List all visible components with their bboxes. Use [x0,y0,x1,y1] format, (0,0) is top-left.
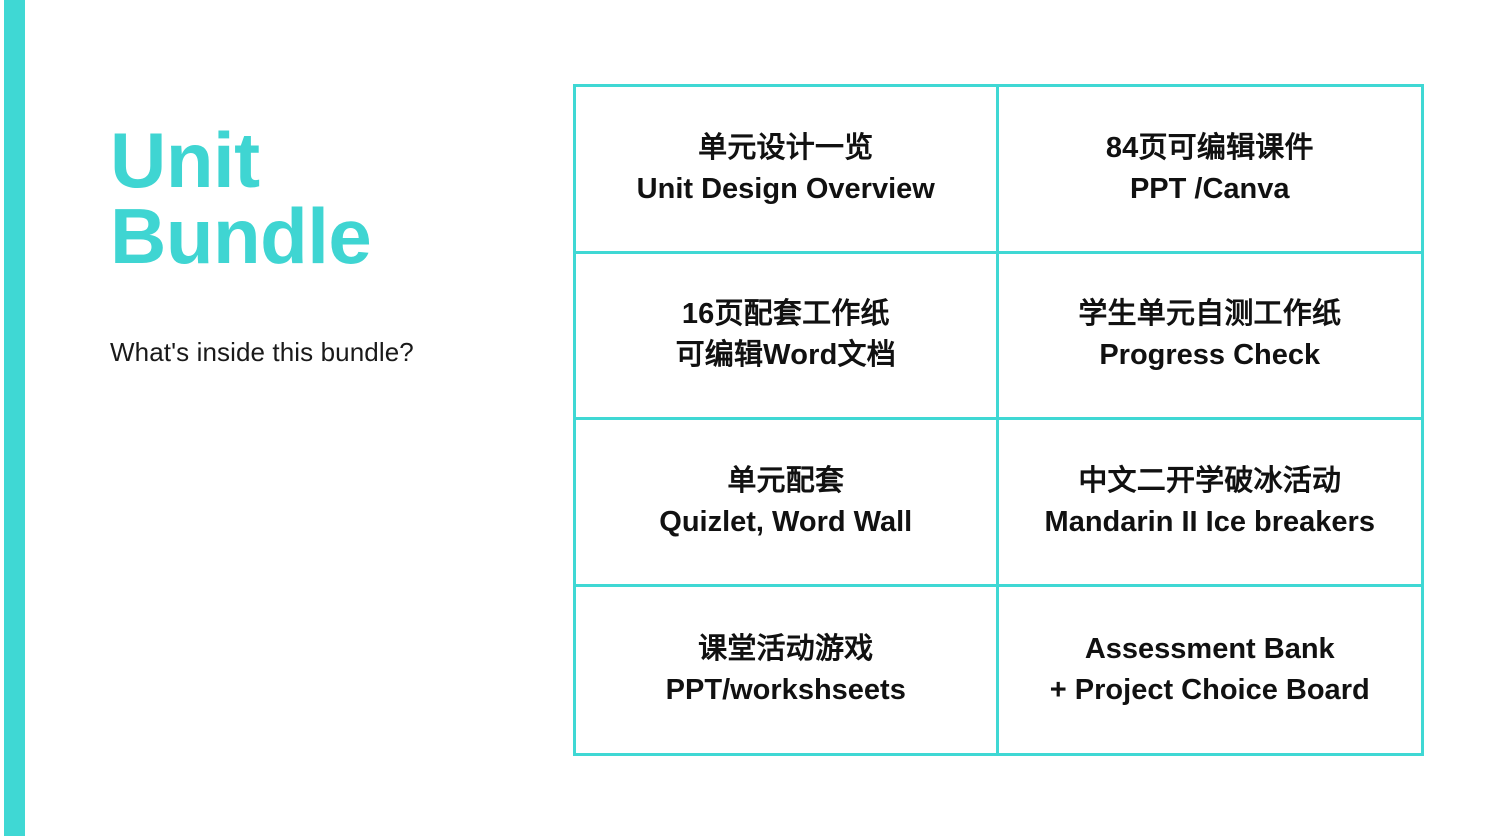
grid-cell-3[interactable]: 16页配套工作纸 可编辑Word文档 [576,254,999,421]
grid-cell-2-line2: PPT /Canva [1130,169,1290,210]
left-accent-bar [4,0,25,836]
grid-cell-1-line1: 单元设计一览 [698,128,873,169]
grid-cell-5[interactable]: 单元配套 Quizlet, Word Wall [576,420,999,587]
grid-cell-1-line2: Unit Design Overview [637,169,935,210]
grid-cell-4-line2: Progress Check [1099,335,1320,376]
page-title: Unit Bundle [110,122,540,275]
grid-cell-8-line2: + Project Choice Board [1050,670,1370,711]
grid-cell-6[interactable]: 中文二开学破冰活动 Mandarin II Ice breakers [999,420,1422,587]
grid-cell-5-line1: 单元配套 [727,461,844,502]
left-text-column: Unit Bundle What's inside this bundle? [110,122,540,368]
grid-cell-2-line1: 84页可编辑课件 [1106,128,1314,169]
page-subtitle: What's inside this bundle? [110,275,540,368]
grid-cell-5-line2: Quizlet, Word Wall [659,502,912,543]
grid-cell-1[interactable]: 单元设计一览 Unit Design Overview [576,87,999,254]
grid-cell-6-line1: 中文二开学破冰活动 [1078,461,1341,502]
bundle-contents-grid: 单元设计一览 Unit Design Overview 84页可编辑课件 PPT… [573,84,1424,756]
grid-cell-3-line2: 可编辑Word文档 [676,335,896,376]
grid-cell-7-line2: PPT/workshseets [666,670,906,711]
grid-cell-4[interactable]: 学生单元自测工作纸 Progress Check [999,254,1422,421]
grid-cell-8[interactable]: Assessment Bank + Project Choice Board [999,587,1422,754]
grid-cell-4-line1: 学生单元自测工作纸 [1078,294,1341,335]
grid-cell-8-line1: Assessment Bank [1085,629,1335,670]
grid-cell-3-line1: 16页配套工作纸 [682,294,890,335]
grid-cell-2[interactable]: 84页可编辑课件 PPT /Canva [999,87,1422,254]
grid-cell-6-line2: Mandarin II Ice breakers [1045,502,1375,543]
grid-cell-7[interactable]: 课堂活动游戏 PPT/workshseets [576,587,999,754]
slide-canvas: Unit Bundle What's inside this bundle? 单… [0,0,1500,836]
grid-cell-7-line1: 课堂活动游戏 [698,629,873,670]
